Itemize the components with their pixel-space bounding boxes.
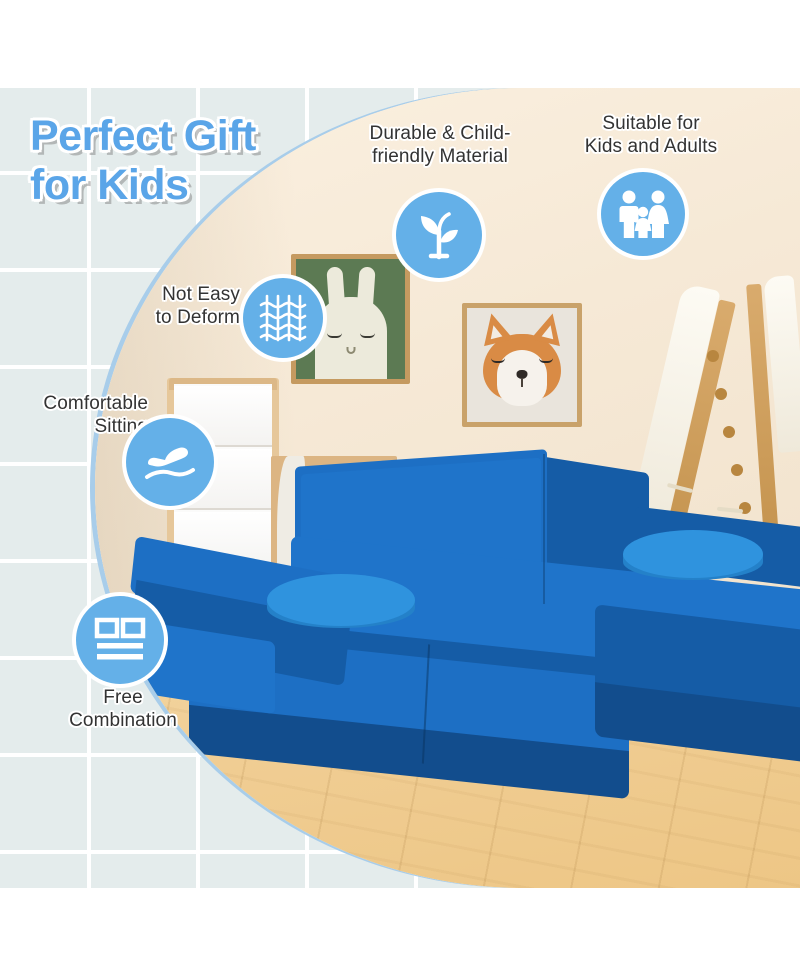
comfortable-sitting-badge[interactable] [126, 418, 214, 506]
sprout-icon [413, 209, 465, 261]
sofa-seam [543, 454, 545, 604]
modular-blocks-icon [94, 617, 146, 663]
feature-label-comfortable-sitting: Comfortable Sitting [0, 392, 148, 438]
durable-material-badge[interactable] [396, 192, 482, 278]
feature-label-durable-material: Durable & Child- friendly Material [330, 122, 550, 168]
family-icon [614, 188, 672, 240]
feature-label-free-combination: Free Combination [38, 686, 208, 732]
suitable-for-all-badge[interactable] [601, 172, 685, 256]
cushion-right-top [623, 530, 763, 578]
feature-label-suitable-for-all: Suitable for Kids and Adults [556, 112, 746, 158]
hand-cushion-icon [142, 437, 198, 487]
cushion-left-top [267, 574, 415, 626]
free-combination-badge[interactable] [76, 596, 164, 684]
product-feature-poster: Perfect Gift for Kids Durable & Child- f… [0, 0, 800, 977]
not-easy-to-deform-badge[interactable] [243, 278, 323, 358]
feature-label-not-easy-to-deform: Not Easy to Deform [110, 283, 240, 329]
mesh-grid-icon [257, 292, 309, 344]
